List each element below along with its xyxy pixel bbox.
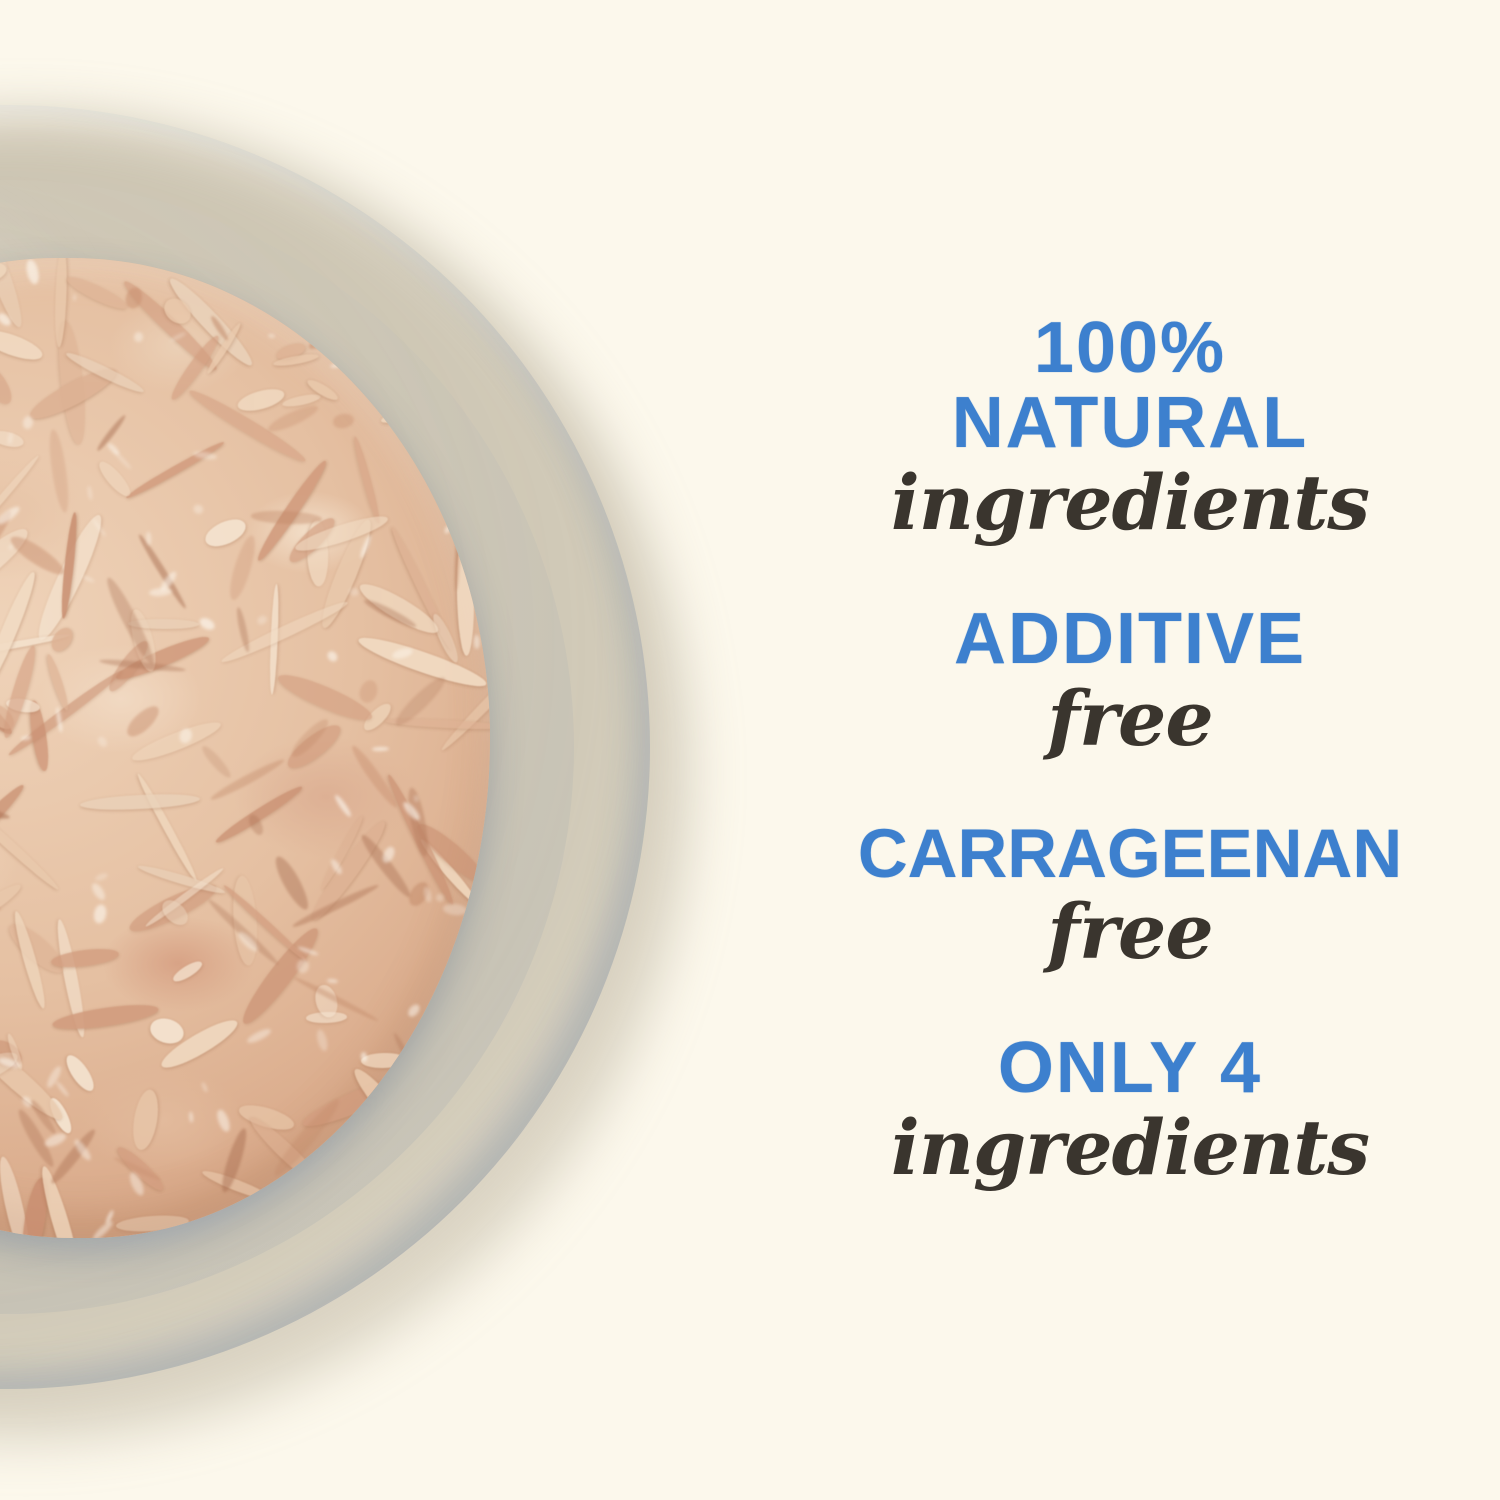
benefit-carrageenan-free: CARRAGEENAN free: [760, 820, 1500, 971]
product-benefits-banner: 100% NATURAL ingredients ADDITIVE free C…: [0, 0, 1500, 1500]
food-photo: [0, 0, 760, 1500]
benefit-natural-cap-1: 100%: [760, 313, 1500, 384]
benefit-only-4-ingredients: ONLY 4 ingredients: [760, 1033, 1500, 1187]
benefit-only4-script: ingredients: [760, 1109, 1500, 1187]
benefit-carrageenan-script: free: [760, 893, 1500, 971]
food-portion: [0, 258, 490, 1238]
food-texture-layer: [0, 258, 490, 1238]
benefit-only4-cap: ONLY 4: [760, 1033, 1500, 1104]
benefit-list: 100% NATURAL ingredients ADDITIVE free C…: [760, 0, 1500, 1500]
benefit-carrageenan-cap: CARRAGEENAN: [760, 820, 1500, 888]
benefit-additive-cap: ADDITIVE: [760, 604, 1500, 675]
benefit-natural-cap-2: NATURAL: [760, 388, 1500, 459]
benefit-additive-script: free: [760, 680, 1500, 758]
benefit-natural: 100% NATURAL ingredients: [760, 313, 1500, 542]
benefit-additive-free: ADDITIVE free: [760, 604, 1500, 758]
benefit-natural-script: ingredients: [760, 464, 1500, 542]
